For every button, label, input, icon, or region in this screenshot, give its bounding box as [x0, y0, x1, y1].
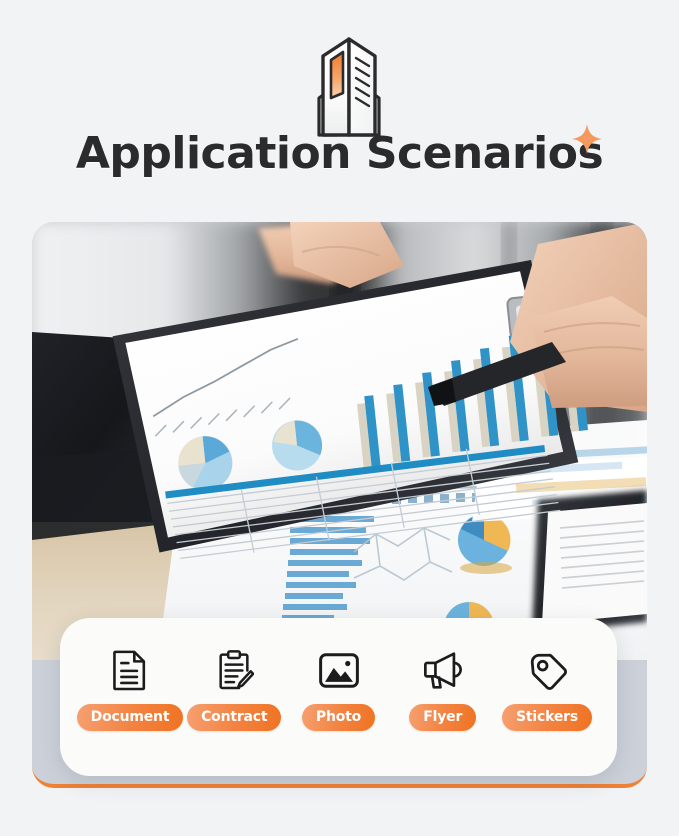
megaphone-icon: [422, 646, 464, 694]
category-label-contract: Contract: [187, 704, 281, 731]
page-title: Application Scenarios: [76, 128, 603, 179]
price-tag-icon: [527, 646, 567, 694]
image-picture-icon: [318, 646, 360, 694]
category-label-document: Document: [77, 704, 184, 731]
clipboard-pen-icon: [214, 646, 254, 694]
categories-card: Document Contract: [60, 618, 617, 776]
category-label-stickers: Stickers: [502, 704, 592, 731]
category-label-flyer: Flyer: [409, 704, 476, 731]
category-stickers[interactable]: Stickers: [495, 646, 599, 731]
document-file-icon: [111, 646, 149, 694]
category-contract[interactable]: Contract: [182, 646, 286, 731]
category-flyer[interactable]: Flyer: [391, 646, 495, 731]
category-label-photo: Photo: [302, 704, 375, 731]
category-document[interactable]: Document: [78, 646, 182, 731]
category-photo[interactable]: Photo: [287, 646, 391, 731]
sparkle-star-icon: [570, 122, 604, 156]
application-scenarios-page: Application Scenarios: [0, 0, 679, 836]
page-header: Application Scenarios: [0, 0, 679, 215]
